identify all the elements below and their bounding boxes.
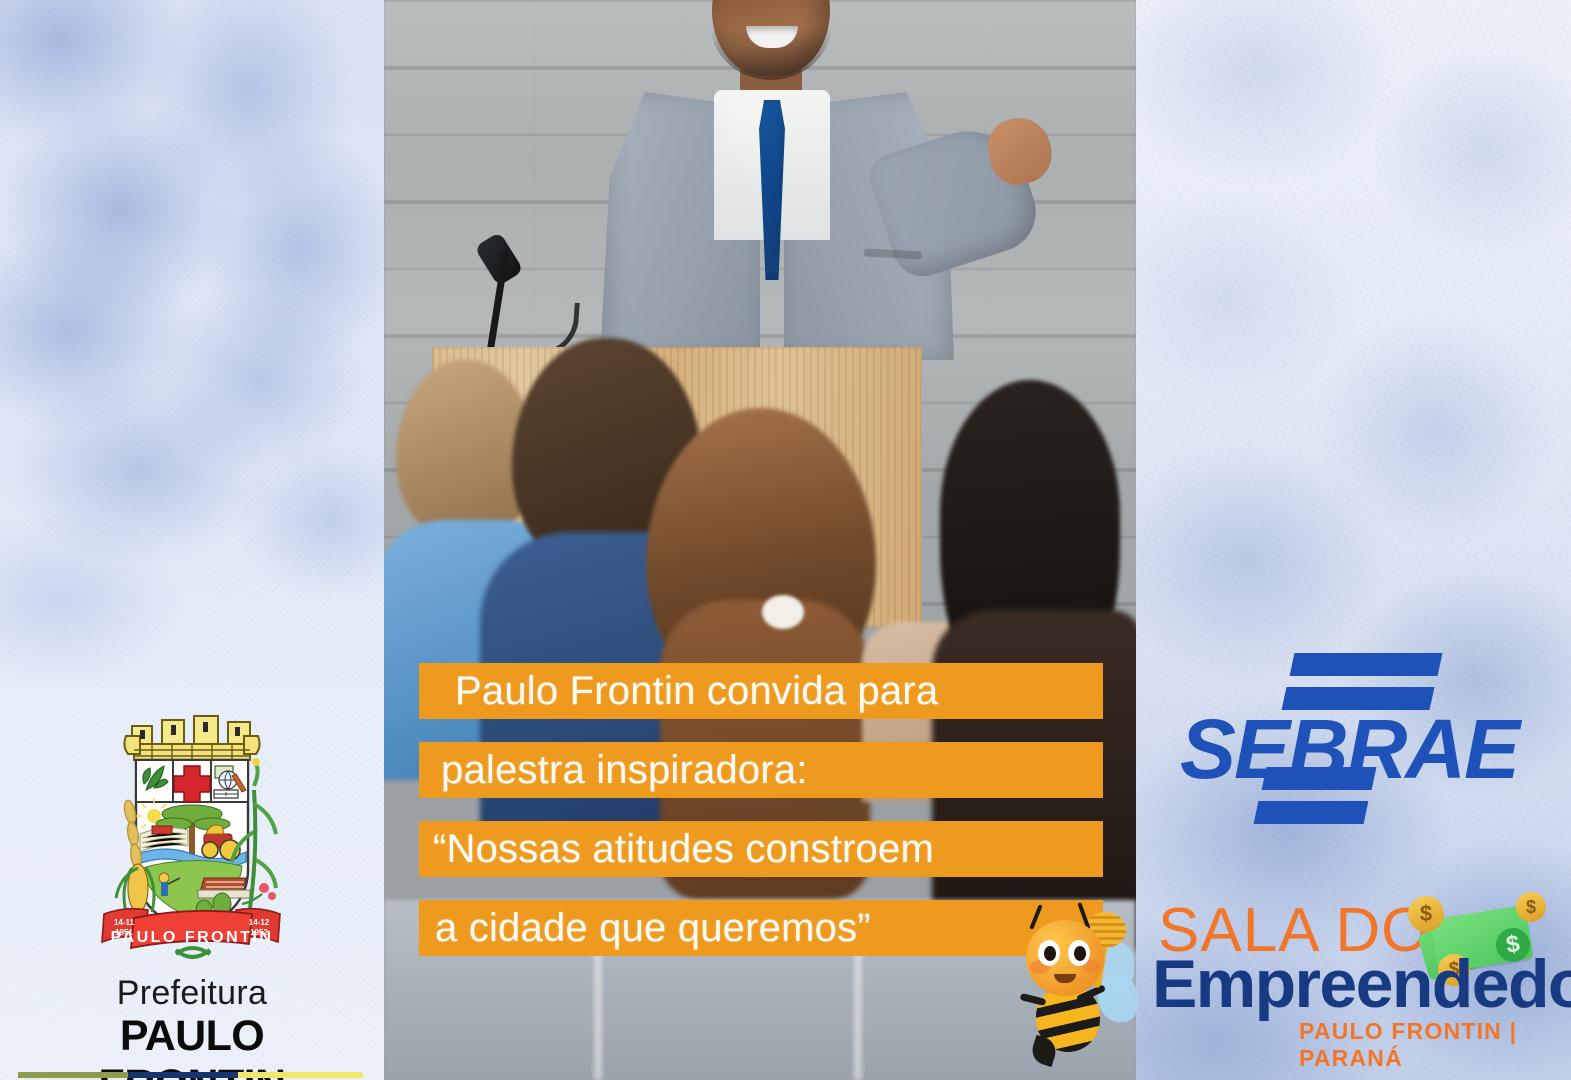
sebrae-bar-bottom-1	[1262, 767, 1377, 790]
caption-line-2: palestra inspiradora:	[419, 742, 1103, 798]
poster-root: RÁDIO DIFUSORA OLMEIA DE PORTO UNIÃO FM …	[0, 0, 1571, 1080]
svg-text:1951: 1951	[115, 928, 133, 937]
sala-line2: Empreendedor	[1152, 950, 1571, 1018]
bee-pupil-right	[1074, 946, 1086, 961]
sebrae-bar-top-1	[1290, 653, 1443, 676]
sala-do-empreendedor-logo: SALA DO $ $ $ $ Empreendedor PAULO FRONT…	[1152, 900, 1571, 1060]
prefeitura-label: Prefeitura	[24, 974, 360, 1013]
svg-text:1952: 1952	[250, 928, 268, 937]
coat-banner-text: PAULO FRONTIN	[111, 929, 274, 946]
coin-icon-2: $	[1516, 892, 1546, 922]
coin-icon-1: $	[1408, 896, 1444, 932]
bee-mascot	[1012, 898, 1136, 1068]
bee-arm-left	[1020, 993, 1047, 1006]
svg-text:14-12: 14-12	[249, 918, 270, 927]
sala-line3: PAULO FRONTIN | PARANÁ	[1299, 1018, 1571, 1072]
bottom-color-stripe	[18, 1072, 363, 1078]
bee-antenna-left	[1029, 904, 1042, 930]
stripe-segment-navy	[128, 1072, 238, 1078]
bee-pupil-left	[1044, 946, 1056, 961]
caption-block: Paulo Frontin convida para palestra insp…	[419, 663, 1103, 956]
prefeitura-city-name: PAULO FRONTIN	[24, 1012, 360, 1080]
bee-head	[1026, 920, 1104, 996]
caption-line-4: a cidade que queremos”	[419, 900, 1103, 956]
stripe-segment-green	[18, 1072, 128, 1078]
svg-text:14-11: 14-11	[114, 918, 135, 927]
bee-wing-lower	[1098, 976, 1138, 1022]
stripe-segment-yellow	[238, 1072, 363, 1078]
coat-of-arms-icon: PAULO FRONTIN 14-11 1951 14-12 1952	[76, 692, 308, 970]
caption-line-3: “Nossas atitudes constroem	[419, 821, 1103, 877]
hair-scrunchie	[762, 595, 804, 629]
caption-line-1: Paulo Frontin convida para	[419, 663, 1103, 719]
sebrae-bar-bottom-2	[1254, 801, 1369, 824]
sebrae-logo: SEBRAE	[1180, 645, 1520, 835]
